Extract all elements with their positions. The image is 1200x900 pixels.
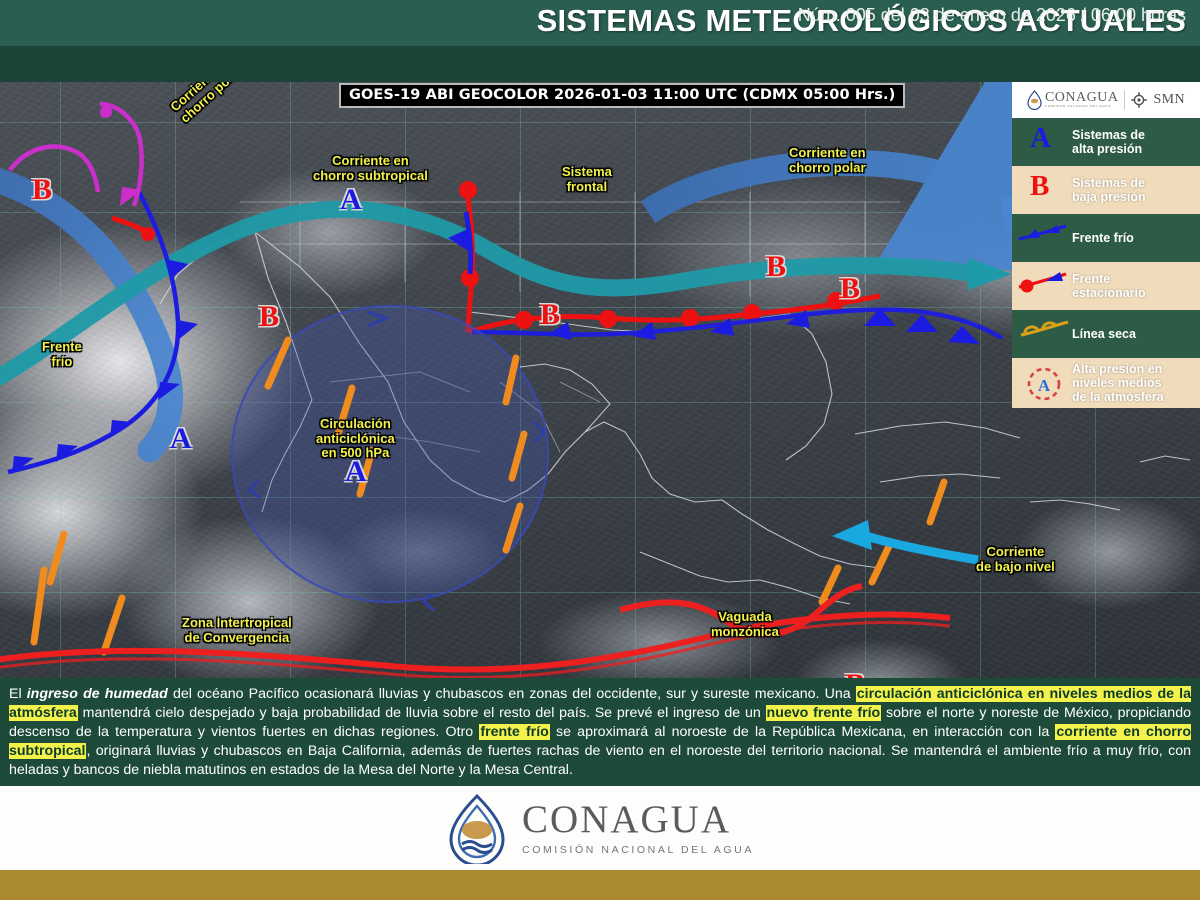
footer-gold-bar	[0, 870, 1200, 900]
legend-item-label: Sistemas de alta presión	[1072, 128, 1145, 156]
conagua-water-icon	[1027, 90, 1042, 110]
legend-brand-primary-sub: COMISIÓN NACIONAL DEL AGUA	[1045, 105, 1119, 108]
legend-item-dry-line[interactable]: Línea seca	[1012, 310, 1200, 358]
stationary-front-icon	[1016, 267, 1072, 297]
low-level-current-arrow	[832, 520, 978, 560]
forecast-segment-plain: del océano Pacífico ocasionará lluvias y…	[168, 686, 856, 702]
legend-item-label: Línea seca	[1072, 327, 1136, 341]
forecast-segment-plain: se aproximará al noroeste de la Repúblic…	[550, 724, 1056, 740]
legend-item-label: Alta presión en niveles medios de la atm…	[1072, 362, 1164, 404]
legend-panel[interactable]: CONAGUA COMISIÓN NACIONAL DEL AGUA SMN A…	[1012, 82, 1200, 408]
mid-level-high-icon-wrap: A	[1016, 364, 1072, 402]
forecast-segment-highlight: frente frío	[479, 724, 549, 740]
legend-item-cold-front[interactable]: Frente frío	[1012, 214, 1200, 262]
pressure-low-B-icon-wrap: B	[1016, 171, 1072, 209]
legend-item-mid-level-high[interactable]: AAlta presión en niveles medios de la at…	[1012, 358, 1200, 408]
legend-brand-header: CONAGUA COMISIÓN NACIONAL DEL AGUA SMN	[1012, 82, 1200, 118]
legend-item-stationary-front[interactable]: Frente estacionario	[1012, 262, 1200, 310]
pressure-high-A-icon: A	[1030, 124, 1051, 153]
stationary-front-central	[448, 181, 479, 332]
brand-divider	[1124, 90, 1125, 110]
pressure-low-B-icon: B	[1030, 172, 1049, 201]
dry-line-icon	[1016, 315, 1072, 345]
subheader-band	[0, 46, 1200, 82]
legend-rows: ASistemas de alta presiónBSistemas de ba…	[1012, 118, 1200, 408]
forecast-text-panel: El ingreso de humedad del océano Pacífic…	[0, 678, 1200, 786]
warm-front-segment-northwest	[112, 218, 155, 241]
satellite-timestamp-label: GOES-19 ABI GEOCOLOR 2026-01-03 11:00 UT…	[339, 83, 905, 108]
legend-item-pressure-high-A[interactable]: ASistemas de alta presión	[1012, 118, 1200, 166]
conagua-eagle-water-icon	[446, 792, 508, 864]
polar-jet-stream-east	[648, 163, 1062, 232]
footer-brand-bar: CONAGUA COMISIÓN NACIONAL DEL AGUA	[0, 786, 1200, 870]
svg-text:A: A	[1038, 376, 1051, 395]
footer-subtitle: COMISIÓN NACIONAL DEL AGUA	[522, 844, 754, 856]
forecast-segment-italic: ingreso de humedad	[27, 686, 168, 702]
bulletin-number-date: Núm. 005 del 03 de enero de 2026 / 06:00…	[798, 5, 1186, 26]
legend-item-label: Frente estacionario	[1072, 272, 1146, 300]
mid-level-high-icon: A	[1016, 364, 1072, 404]
legend-brand-secondary: SMN	[1153, 92, 1185, 108]
stationary-front-icon-wrap	[1016, 267, 1072, 305]
forecast-paragraph: El ingreso de humedad del océano Pacífic…	[9, 685, 1191, 779]
legend-brand-primary: CONAGUA COMISIÓN NACIONAL DEL AGUA	[1045, 91, 1119, 108]
forecast-segment-plain: , originará lluvias y chubascos en Baja …	[9, 743, 1191, 778]
conagua-logo: CONAGUA COMISIÓN NACIONAL DEL AGUA	[1027, 90, 1119, 110]
forecast-segment-highlight: nuevo frente frío	[766, 705, 882, 721]
legend-item-pressure-low-B[interactable]: BSistemas de baja presión	[1012, 166, 1200, 214]
legend-item-label: Sistemas de baja presión	[1072, 176, 1146, 204]
footer-title: CONAGUA	[522, 800, 754, 839]
conagua-footer-logo: CONAGUA COMISIÓN NACIONAL DEL AGUA	[446, 792, 754, 864]
forecast-segment-plain: El	[9, 686, 27, 702]
cold-front-icon-wrap	[1016, 219, 1072, 257]
smn-gear-icon	[1131, 92, 1147, 108]
legend-item-label: Frente frío	[1072, 231, 1134, 245]
dry-line-icon-wrap	[1016, 315, 1072, 353]
forecast-segment-plain: mantendrá cielo despejado y baja probabi…	[78, 705, 766, 721]
pressure-high-A-icon-wrap: A	[1016, 123, 1072, 161]
cold-front-icon	[1016, 219, 1072, 249]
intertropical-convergence-zone	[0, 615, 950, 678]
